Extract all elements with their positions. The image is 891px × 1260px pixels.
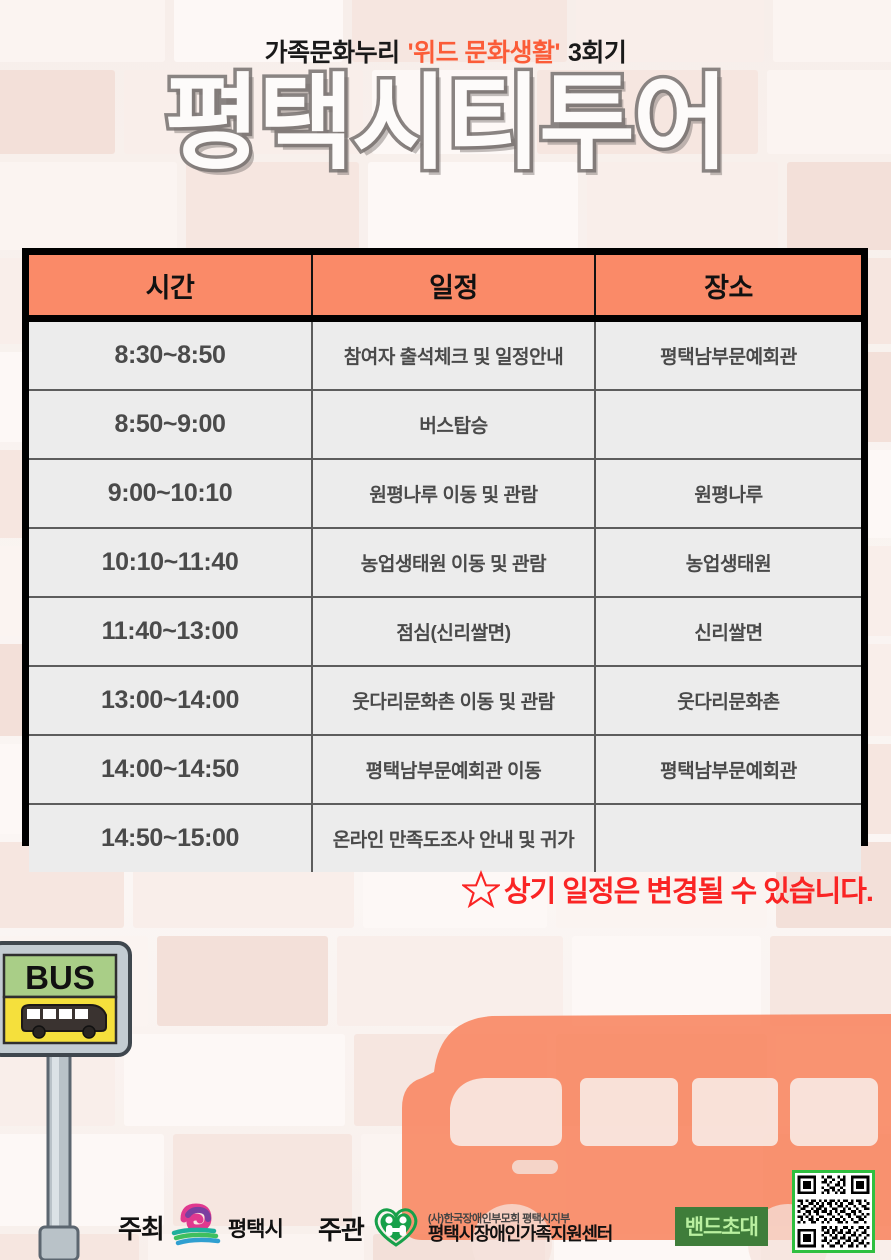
pyeongtaek-city-logo-icon [170, 1203, 224, 1252]
table-header-row: 시간 일정 장소 [29, 255, 861, 319]
cell-time: 9:00~10:10 [29, 459, 312, 528]
subtitle-suffix: 3회기 [568, 39, 626, 67]
svg-text:BUS: BUS [25, 959, 95, 996]
cell-plan: 평택남부문예회관 이동 [312, 735, 595, 804]
family-support-center-heart-icon [370, 1203, 422, 1254]
cell-time: 13:00~14:00 [29, 666, 312, 735]
cell-plan: 참여자 출석체크 및 일정안내 [312, 319, 595, 391]
host-name: 평택시 [228, 1213, 283, 1243]
subtitle-prefix: 가족문화누리 [265, 39, 400, 67]
column-header-time: 시간 [29, 255, 312, 319]
subtitle-accent: '위드 문화생활' [408, 39, 560, 67]
organizer-sub-name: (사)한국장애인부모회 평택시지부 [428, 1213, 612, 1225]
table-row: 10:10~11:40 농업생태원 이동 및 관람 농업생태원 [29, 528, 861, 597]
table-row: 13:00~14:00 웃다리문화촌 이동 및 관람 웃다리문화촌 [29, 666, 861, 735]
cell-plan: 점심(신리쌀면) [312, 597, 595, 666]
cell-place: 농업생태원 [595, 528, 861, 597]
organizer-block: 주관 (사)한국장애인부모회 평택시지부 평택시장애인가족지원센터 [318, 1203, 612, 1254]
table-row: 9:00~10:10 원평나루 이동 및 관람 원평나루 [29, 459, 861, 528]
organizer-text: (사)한국장애인부모회 평택시지부 평택시장애인가족지원센터 [428, 1213, 612, 1245]
host-label: 주최 [118, 1209, 164, 1246]
cell-time: 14:50~15:00 [29, 804, 312, 872]
schedule-change-notice: 상기 일정은 변경될 수 있습니다. [462, 868, 873, 910]
qr-code[interactable] [792, 1170, 875, 1253]
table-row: 8:50~9:00 버스탑승 [29, 390, 861, 459]
band-invite-label[interactable]: 밴드초대 [675, 1207, 768, 1246]
cell-place: 신리쌀면 [595, 597, 861, 666]
cell-time: 11:40~13:00 [29, 597, 312, 666]
cell-place [595, 804, 861, 872]
cell-plan: 농업생태원 이동 및 관람 [312, 528, 595, 597]
column-header-plan: 일정 [312, 255, 595, 319]
cell-plan: 버스탑승 [312, 390, 595, 459]
cell-time: 8:50~9:00 [29, 390, 312, 459]
host-block: 주최 평택시 [118, 1203, 283, 1252]
poster-subtitle: 가족문화누리'위드 문화생활'3회기 [0, 33, 891, 69]
table-row: 14:00~14:50 평택남부문예회관 이동 평택남부문예회관 [29, 735, 861, 804]
event-poster: BUS 가족문화누리'위드 문화생활'3회기 평택시티투어 [0, 0, 891, 1260]
cell-plan: 웃다리문화촌 이동 및 관람 [312, 666, 595, 735]
organizer-main-name: 평택시장애인가족지원센터 [428, 1225, 612, 1245]
table-row: 8:30~8:50 참여자 출석체크 및 일정안내 평택남부문예회관 [29, 319, 861, 391]
cell-plan: 원평나루 이동 및 관람 [312, 459, 595, 528]
column-header-place: 장소 [595, 255, 861, 319]
cell-place: 평택남부문예회관 [595, 735, 861, 804]
star-icon [462, 870, 500, 908]
cell-time: 14:00~14:50 [29, 735, 312, 804]
cell-place: 웃다리문화촌 [595, 666, 861, 735]
cell-place [595, 390, 861, 459]
cell-time: 8:30~8:50 [29, 319, 312, 391]
cell-plan: 온라인 만족도조사 안내 및 귀가 [312, 804, 595, 872]
cell-time: 10:10~11:40 [29, 528, 312, 597]
cell-place: 평택남부문예회관 [595, 319, 861, 391]
table-row: 14:50~15:00 온라인 만족도조사 안내 및 귀가 [29, 804, 861, 872]
organizer-label: 주관 [318, 1210, 364, 1247]
schedule-table: 시간 일정 장소 8:30~8:50 참여자 출석체크 및 일정안내 평택남부문… [29, 255, 861, 872]
page-title: 평택시티투어 [0, 70, 891, 179]
schedule-table-container: 시간 일정 장소 8:30~8:50 참여자 출석체크 및 일정안내 평택남부문… [22, 248, 868, 846]
table-row: 11:40~13:00 점심(신리쌀면) 신리쌀면 [29, 597, 861, 666]
cell-place: 원평나루 [595, 459, 861, 528]
notice-text: 상기 일정은 변경될 수 있습니다. [504, 868, 873, 910]
